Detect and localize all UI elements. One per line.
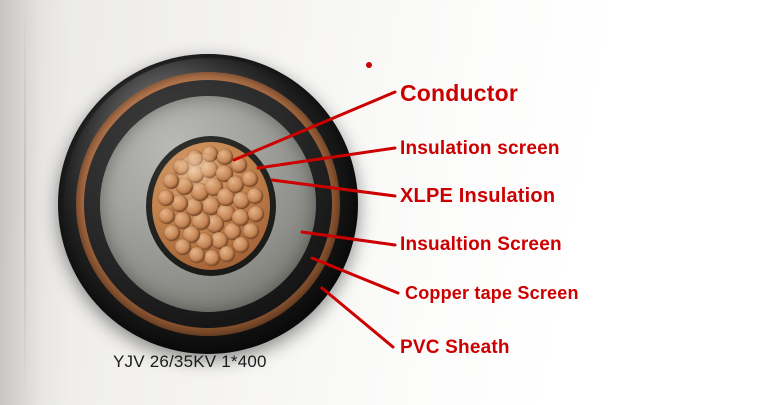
- conductor-strand: [204, 250, 220, 266]
- background-streak: [24, 0, 26, 405]
- layer-conductor: [152, 142, 270, 270]
- conductor-strand: [219, 246, 235, 262]
- label-pvc-sheath: PVC Sheath: [400, 337, 510, 359]
- conductor-strand: [242, 171, 258, 187]
- label-insualtion-screen: Insualtion Screen: [400, 234, 562, 256]
- cable-cross-section-diagram: Conductor Insulation screen XLPE Insulat…: [0, 0, 760, 405]
- label-conductor: Conductor: [400, 80, 518, 107]
- cable-illustration: [58, 54, 358, 354]
- conductor-strand: [202, 146, 218, 162]
- conductor-strand: [164, 225, 180, 241]
- conductor-strand: [159, 208, 175, 224]
- conductor-strand: [243, 223, 259, 239]
- conductor-strand: [231, 157, 247, 173]
- conductor-strand: [248, 206, 264, 222]
- label-insulation-screen: Insulation screen: [400, 138, 560, 160]
- conductor-strand: [247, 188, 263, 204]
- label-xlpe-insulation: XLPE Insulation: [400, 185, 555, 208]
- conductor-strand: [189, 247, 205, 263]
- conductor-strand: [187, 150, 203, 166]
- red-dot-marker: [366, 62, 372, 68]
- cable-spec-caption: YJV 26/35KV 1*400: [113, 352, 267, 372]
- conductor-strand: [175, 239, 191, 255]
- label-copper-tape-screen: Copper tape Screen: [405, 283, 579, 304]
- conductor-strand: [233, 237, 249, 253]
